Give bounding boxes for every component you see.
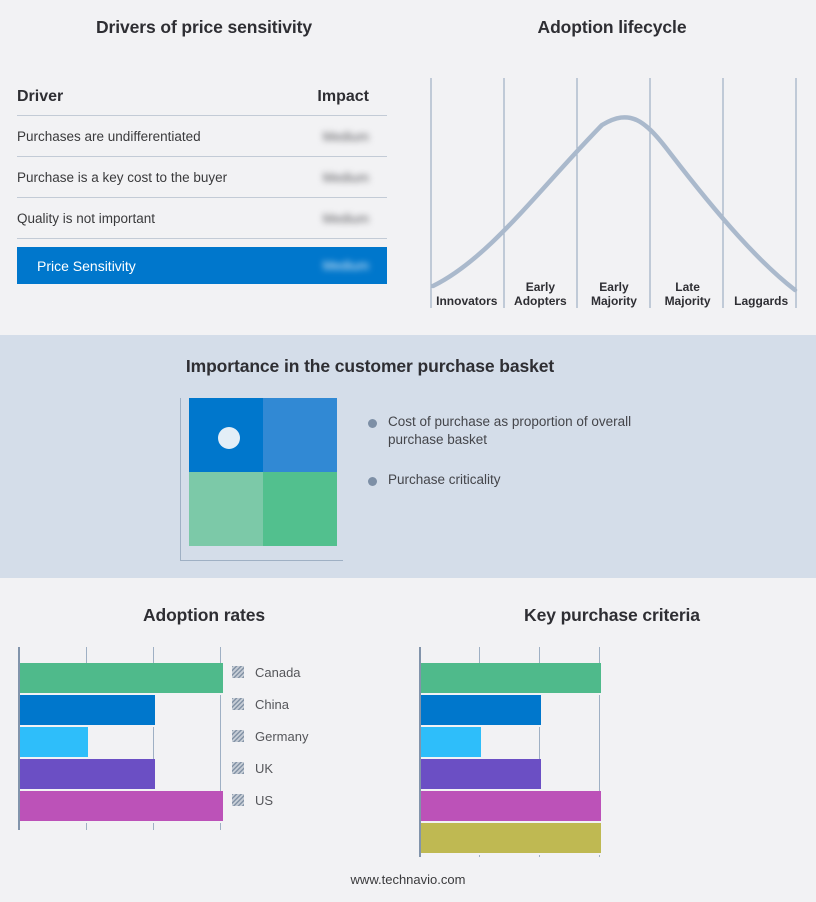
bar-row-germany [20, 727, 223, 759]
segment-line-2: Laggards [724, 294, 798, 308]
segment-line-1: Early [577, 280, 651, 294]
footer-url: www.technavio.com [0, 872, 816, 887]
legend-label: China [255, 697, 289, 712]
quadrant-bottom-right [263, 472, 337, 546]
purchase-basket-legend: Cost of purchase as proportion of overal… [368, 413, 668, 511]
key-purchase-criteria-chart [419, 647, 624, 857]
legend-label: Germany [255, 729, 308, 744]
legend-label: Purchase criticality [388, 471, 501, 489]
segment-line-2: Majority [577, 294, 651, 308]
driver-label: Purchase is a key cost to the buyer [17, 170, 292, 185]
table-header-row: Driver Impact [17, 88, 387, 116]
segment-line-2: Innovators [430, 294, 504, 308]
bar-regulatory-compliance [421, 791, 601, 823]
bar-row-relatability [421, 759, 601, 791]
drivers-table: Driver Impact Purchases are undifferenti… [17, 88, 387, 284]
table-row: Purchases are undifferentiated Medium [17, 116, 387, 157]
drivers-panel: Drivers of price sensitivity Driver Impa… [0, 0, 408, 335]
quadrant-top-left [189, 398, 263, 472]
lifecycle-segment-late-majority: Late Majority [651, 265, 725, 310]
bar-uk [20, 759, 155, 791]
legend-label: US [255, 793, 273, 808]
legend-label: Cost of purchase as proportion of overal… [388, 413, 668, 449]
bar-row-regulatory-compliance [421, 791, 601, 823]
hatch-swatch-icon [232, 666, 244, 678]
bar-row-us [20, 791, 223, 823]
drivers-title: Drivers of price sensitivity [0, 17, 408, 38]
bar-row-price [421, 695, 601, 727]
bar-price [421, 695, 541, 727]
column-header-driver: Driver [17, 88, 292, 106]
legend-item-germany: Germany [232, 720, 308, 752]
legend-item: Cost of purchase as proportion of overal… [368, 413, 668, 449]
adoption-rates-legend: Canada China Germany UK US [232, 656, 308, 816]
impact-value-redacted: Medium [292, 170, 387, 185]
adoption-rates-chart [18, 647, 223, 830]
segment-line-1: Late [651, 280, 725, 294]
purchase-basket-title: Importance in the customer purchase bask… [0, 356, 740, 377]
quadrant-axis-vertical [180, 398, 181, 561]
quadrant-matrix [180, 398, 343, 561]
bar-canada [20, 663, 223, 695]
driver-label: Purchases are undifferentiated [17, 129, 292, 144]
key-purchase-criteria-panel: Key purchase criteria [408, 578, 816, 868]
purchase-basket-section: Importance in the customer purchase bask… [0, 335, 816, 578]
legend-label: Canada [255, 665, 301, 680]
price-sensitivity-summary-row: Price Sensitivity Medium [17, 247, 387, 284]
legend-item-canada: Canada [232, 656, 308, 688]
table-row: Purchase is a key cost to the buyer Medi… [17, 157, 387, 198]
bar-group [421, 663, 601, 855]
legend-item-china: China [232, 688, 308, 720]
bar-service [421, 823, 601, 855]
table-row: Quality is not important Medium [17, 198, 387, 239]
hatch-swatch-icon [232, 794, 244, 806]
position-marker-dot [218, 427, 240, 449]
lifecycle-segment-early-majority: Early Majority [577, 265, 651, 310]
bar-row-canada [20, 663, 223, 695]
adoption-lifecycle-panel: Adoption lifecycle Innovators Early Adop… [408, 0, 816, 335]
bar-relatability [421, 759, 541, 791]
bar-row-service [421, 823, 601, 855]
key-purchase-criteria-title: Key purchase criteria [408, 605, 816, 626]
bar-china [20, 695, 155, 727]
bar-row-uk [20, 759, 223, 791]
bar-group [20, 663, 223, 823]
lifecycle-segment-labels: Innovators Early Adopters Early Majority… [430, 265, 798, 310]
bullet-dot-icon [368, 419, 377, 428]
adoption-rates-panel: Adoption rates [0, 578, 408, 868]
lifecycle-segment-innovators: Innovators [430, 265, 504, 310]
quadrant-bottom-left [189, 472, 263, 546]
bar-germany [20, 727, 88, 759]
segment-line-1: Early [504, 280, 578, 294]
legend-item-us: US [232, 784, 308, 816]
bar-row-quality [421, 727, 601, 759]
adoption-lifecycle-title: Adoption lifecycle [408, 17, 816, 38]
top-section: Drivers of price sensitivity Driver Impa… [0, 0, 816, 335]
legend-item: Purchase criticality [368, 471, 668, 489]
lifecycle-segment-laggards: Laggards [724, 265, 798, 310]
legend-label: UK [255, 761, 273, 776]
segment-line-2: Adopters [504, 294, 578, 308]
legend-item-uk: UK [232, 752, 308, 784]
quadrant-top-right [263, 398, 337, 472]
hatch-swatch-icon [232, 762, 244, 774]
impact-value-redacted: Medium [292, 129, 387, 144]
hatch-swatch-icon [232, 730, 244, 742]
bullet-dot-icon [368, 477, 377, 486]
bottom-section: Adoption rates [0, 578, 816, 902]
quadrant-axis-horizontal [180, 560, 343, 561]
adoption-rates-title: Adoption rates [0, 605, 408, 626]
hatch-swatch-icon [232, 698, 244, 710]
bar-quality [421, 727, 481, 759]
segment-line-2: Majority [651, 294, 725, 308]
price-sensitivity-label: Price Sensitivity [37, 258, 292, 274]
bar-row-china [20, 695, 223, 727]
impact-value-redacted: Medium [292, 258, 387, 273]
lifecycle-segment-early-adopters: Early Adopters [504, 265, 578, 310]
quadrant-grid [189, 398, 337, 546]
impact-value-redacted: Medium [292, 211, 387, 226]
column-header-impact: Impact [292, 88, 387, 106]
bar-row-innovation [421, 663, 601, 695]
driver-label: Quality is not important [17, 211, 292, 226]
bar-innovation [421, 663, 601, 695]
bar-us [20, 791, 223, 823]
